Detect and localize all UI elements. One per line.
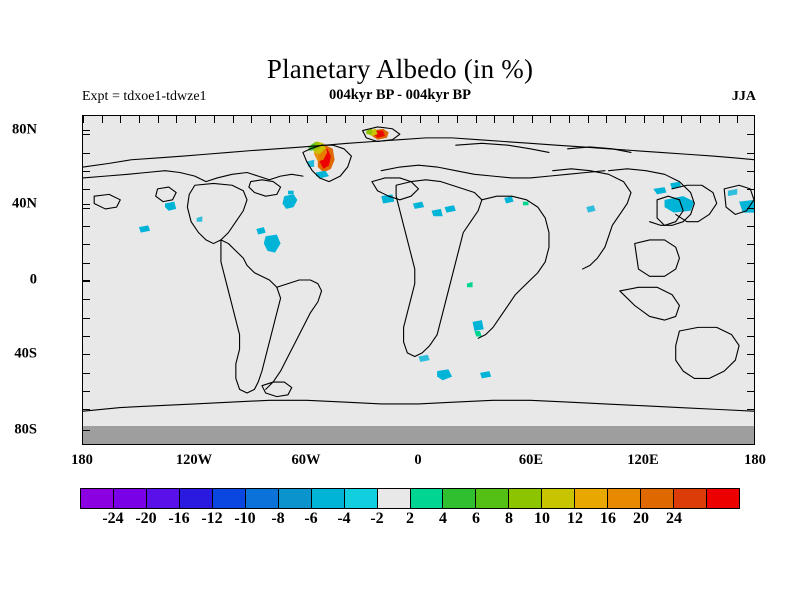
colorbar-tick--4: -4 bbox=[337, 510, 350, 528]
lon-label-60e: 60E bbox=[519, 452, 543, 469]
y-tick-minor bbox=[83, 391, 90, 392]
y-tick-major bbox=[83, 354, 90, 355]
colorbar-segment-11 bbox=[443, 489, 476, 508]
main-title: Planetary Albedo (in %) bbox=[0, 54, 800, 85]
y-tick-minor bbox=[83, 409, 90, 410]
colorbar-segment-8 bbox=[345, 489, 378, 508]
y-tick-major bbox=[83, 130, 90, 131]
colorbar-tick--10: -10 bbox=[234, 510, 255, 528]
x-tick-minor bbox=[270, 116, 271, 123]
x-tick-minor bbox=[307, 116, 308, 123]
y-tick-minor bbox=[747, 263, 754, 264]
y-tick-minor bbox=[747, 171, 754, 172]
x-tick-minor bbox=[83, 116, 84, 123]
y-tick-minor bbox=[83, 281, 90, 282]
colorbar-tick-16: 16 bbox=[600, 510, 616, 528]
colorbar bbox=[80, 488, 740, 509]
colorbar-tick-8: 8 bbox=[505, 510, 513, 528]
colorbar-tick--12: -12 bbox=[201, 510, 222, 528]
lon-label-180w: 180 bbox=[71, 452, 93, 469]
x-tick-minor bbox=[401, 116, 402, 123]
y-tick-minor bbox=[747, 354, 754, 355]
world-map bbox=[83, 116, 754, 444]
lat-label-40n: 40N bbox=[12, 196, 37, 213]
x-tick-minor bbox=[700, 116, 701, 123]
colorbar-tick-10: 10 bbox=[534, 510, 550, 528]
colorbar-tick-20: 20 bbox=[633, 510, 649, 528]
y-tick-minor bbox=[747, 226, 754, 227]
colorbar-segment-7 bbox=[312, 489, 345, 508]
colorbar-segment-12 bbox=[476, 489, 509, 508]
colorbar-tick--20: -20 bbox=[135, 510, 156, 528]
x-tick-minor bbox=[532, 116, 533, 123]
colorbar-segment-5 bbox=[246, 489, 279, 508]
x-tick-minor bbox=[176, 116, 177, 123]
lon-label-0: 0 bbox=[414, 452, 421, 469]
x-tick-minor bbox=[420, 116, 421, 123]
colorbar-segment-18 bbox=[674, 489, 707, 508]
lat-label-0: 0 bbox=[30, 272, 37, 289]
y-tick-major bbox=[83, 280, 90, 281]
colorbar-segment-13 bbox=[509, 489, 542, 508]
y-tick-minor bbox=[747, 189, 754, 190]
x-tick-minor bbox=[326, 116, 327, 123]
y-tick-minor bbox=[83, 171, 90, 172]
x-tick-minor bbox=[606, 116, 607, 123]
y-tick-minor bbox=[83, 336, 90, 337]
x-tick-minor bbox=[233, 116, 234, 123]
lon-label-60w: 60W bbox=[292, 452, 321, 469]
x-tick-minor bbox=[139, 116, 140, 123]
y-tick-minor bbox=[747, 244, 754, 245]
colorbar-segment-4 bbox=[213, 489, 246, 508]
x-tick-minor bbox=[457, 116, 458, 123]
colorbar-segment-2 bbox=[147, 489, 180, 508]
x-tick-minor bbox=[289, 116, 290, 123]
colorbar-segment-17 bbox=[641, 489, 674, 508]
y-tick-minor bbox=[83, 134, 90, 135]
y-tick-minor bbox=[747, 208, 754, 209]
y-tick-minor bbox=[83, 373, 90, 374]
x-tick-minor bbox=[588, 116, 589, 123]
colorbar-tick--16: -16 bbox=[168, 510, 189, 528]
colorbar-segment-9 bbox=[378, 489, 411, 508]
x-tick-minor bbox=[345, 116, 346, 123]
x-tick-minor bbox=[363, 116, 364, 123]
lat-label-40s: 40S bbox=[14, 346, 37, 363]
colorbar-segment-6 bbox=[279, 489, 312, 508]
x-tick-minor bbox=[438, 116, 439, 123]
lon-label-180e: 180 bbox=[744, 452, 766, 469]
y-tick-minor bbox=[83, 189, 90, 190]
colorbar-segment-0 bbox=[81, 489, 114, 508]
colorbar-tick-6: 6 bbox=[472, 510, 480, 528]
colorbar-tick-labels: -24-20-16-12-10-8-6-4-224681012162024 bbox=[80, 510, 740, 532]
y-tick-minor bbox=[83, 244, 90, 245]
y-tick-minor bbox=[83, 153, 90, 154]
y-tick-minor bbox=[747, 336, 754, 337]
x-tick-minor bbox=[158, 116, 159, 123]
colorbar-tick-24: 24 bbox=[666, 510, 682, 528]
x-tick-minor bbox=[719, 116, 720, 123]
map-plot-area bbox=[82, 115, 755, 445]
lon-label-120e: 120E bbox=[627, 452, 658, 469]
y-tick-minor bbox=[83, 208, 90, 209]
colorbar-segments bbox=[80, 488, 740, 509]
x-tick-minor bbox=[195, 116, 196, 123]
colorbar-segment-16 bbox=[608, 489, 641, 508]
y-tick-minor bbox=[747, 153, 754, 154]
y-tick-major bbox=[83, 430, 90, 431]
x-tick-minor bbox=[120, 116, 121, 123]
colorbar-tick--6: -6 bbox=[304, 510, 317, 528]
x-tick-minor bbox=[102, 116, 103, 123]
x-tick-minor bbox=[550, 116, 551, 123]
colorbar-segment-19 bbox=[707, 489, 739, 508]
x-tick-minor bbox=[663, 116, 664, 123]
colorbar-segment-10 bbox=[411, 489, 444, 508]
season-label: JJA bbox=[732, 89, 756, 105]
x-tick-minor bbox=[681, 116, 682, 123]
colorbar-tick--2: -2 bbox=[370, 510, 383, 528]
colorbar-tick-4: 4 bbox=[439, 510, 447, 528]
y-tick-minor bbox=[83, 318, 90, 319]
colorbar-tick--24: -24 bbox=[102, 510, 123, 528]
x-tick-minor bbox=[214, 116, 215, 123]
x-tick-minor bbox=[382, 116, 383, 123]
y-tick-minor bbox=[747, 409, 754, 410]
x-tick-minor bbox=[644, 116, 645, 123]
colorbar-tick--8: -8 bbox=[271, 510, 284, 528]
x-tick-minor bbox=[494, 116, 495, 123]
x-tick-minor bbox=[569, 116, 570, 123]
y-tick-minor bbox=[83, 263, 90, 264]
y-tick-minor bbox=[747, 318, 754, 319]
x-tick-minor bbox=[513, 116, 514, 123]
y-tick-minor bbox=[747, 134, 754, 135]
y-tick-minor bbox=[83, 299, 90, 300]
colorbar-tick-2: 2 bbox=[406, 510, 414, 528]
experiment-label: Expt = tdxoe1-tdwze1 bbox=[82, 89, 207, 105]
y-tick-minor bbox=[747, 281, 754, 282]
x-tick-minor bbox=[476, 116, 477, 123]
y-tick-major bbox=[83, 204, 90, 205]
colorbar-segment-1 bbox=[114, 489, 147, 508]
bottom-grey-band bbox=[83, 426, 754, 444]
colorbar-segment-15 bbox=[575, 489, 608, 508]
colorbar-tick-12: 12 bbox=[567, 510, 583, 528]
colorbar-segment-14 bbox=[542, 489, 575, 508]
x-tick-minor bbox=[251, 116, 252, 123]
y-tick-minor bbox=[747, 373, 754, 374]
y-tick-minor bbox=[83, 226, 90, 227]
lat-label-80s: 80S bbox=[14, 422, 37, 439]
x-tick-minor bbox=[625, 116, 626, 123]
lon-label-120w: 120W bbox=[176, 452, 212, 469]
x-tick-minor bbox=[737, 116, 738, 123]
y-tick-minor bbox=[747, 299, 754, 300]
colorbar-segment-3 bbox=[180, 489, 213, 508]
y-tick-minor bbox=[747, 391, 754, 392]
lat-label-80n: 80N bbox=[12, 122, 37, 139]
